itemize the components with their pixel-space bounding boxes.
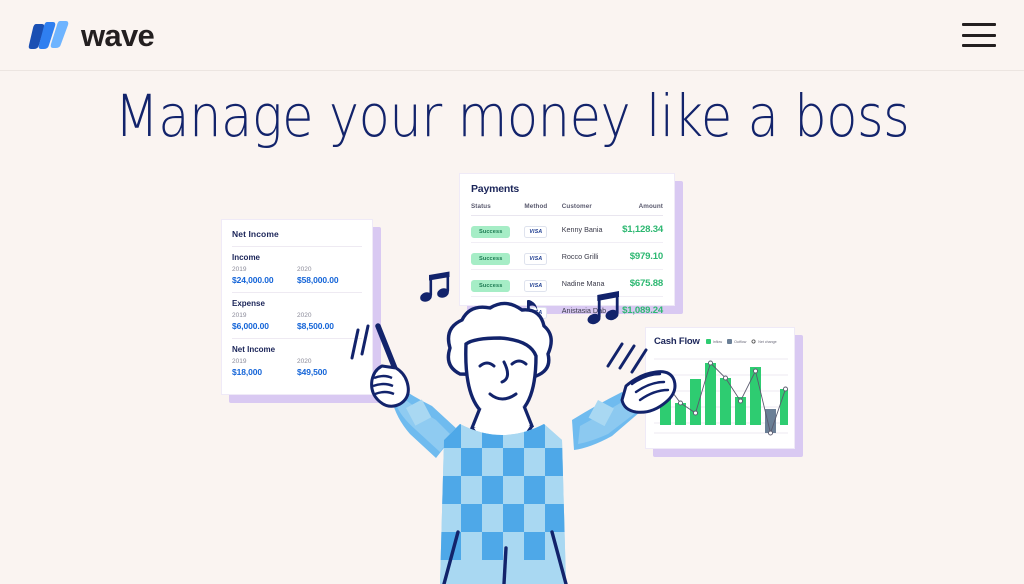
column-header-method: Method xyxy=(524,203,561,216)
column-header-status: Status xyxy=(471,203,524,216)
amount-value: $6,000.00 xyxy=(232,321,297,331)
net-income-card-title: Net Income xyxy=(232,229,362,239)
year-column: 2019 $24,000.00 xyxy=(232,266,297,285)
hamburger-bar xyxy=(962,34,996,37)
beamed-eighth-notes-icon-left xyxy=(419,272,450,304)
cell-status: Success xyxy=(471,243,524,270)
sweater-body xyxy=(440,420,566,584)
year-label: 2019 xyxy=(232,312,297,319)
net-income-section: Income 2019 $24,000.00 2020 $58,000.00 xyxy=(232,253,362,285)
cell-customer: Rocco Grilli xyxy=(562,243,622,270)
table-header-row: Status Method Customer Amount xyxy=(471,203,663,216)
year-label: 2019 xyxy=(232,266,297,273)
cell-method: VISA xyxy=(524,243,561,270)
section-label: Income xyxy=(232,253,362,262)
brand-logo[interactable]: wave xyxy=(28,18,154,52)
brand-name: wave xyxy=(81,20,154,51)
legend-label: Net change xyxy=(758,340,776,344)
cell-amount: $1,128.34 xyxy=(622,216,663,243)
inflow-swatch-icon xyxy=(706,339,711,344)
right-hand xyxy=(622,372,675,413)
cell-method: VISA xyxy=(524,216,561,243)
divider xyxy=(232,292,362,293)
column-header-amount: Amount xyxy=(622,203,663,216)
year-column: 2019 $6,000.00 xyxy=(232,312,297,331)
table-row[interactable]: Success VISA Kenny Bania $1,128.34 xyxy=(471,216,663,243)
visa-icon: VISA xyxy=(524,226,547,238)
year-column: 2020 $58,000.00 xyxy=(297,266,362,285)
hamburger-bar xyxy=(962,44,996,47)
net-change-marker-icon xyxy=(751,339,756,344)
hamburger-bar xyxy=(962,23,996,26)
hamburger-menu-icon[interactable] xyxy=(962,23,996,47)
legend-label: Inflow xyxy=(713,340,722,344)
legend-item-inflow: Inflow xyxy=(706,339,722,344)
year-label: 2019 xyxy=(232,358,297,365)
site-header: wave xyxy=(0,0,1024,71)
status-badge: Success xyxy=(471,226,510,238)
page-root: wave Manage your money like a boss Net I… xyxy=(0,0,1024,584)
amount-value: $24,000.00 xyxy=(232,275,297,285)
motion-lines-right xyxy=(608,344,646,372)
cell-customer: Kenny Bania xyxy=(562,216,622,243)
cell-amount: $979.10 xyxy=(622,243,663,270)
outflow-swatch-icon xyxy=(727,339,732,344)
visa-icon: VISA xyxy=(524,253,547,265)
cell-status: Success xyxy=(471,216,524,243)
wave-logo-icon xyxy=(28,18,70,52)
left-hand xyxy=(372,366,409,406)
legend-item-net-change: Net change xyxy=(751,339,776,344)
legend-label: Outflow xyxy=(734,340,746,344)
page-title: Manage your money like a boss xyxy=(61,86,962,147)
year-label: 2020 xyxy=(297,266,362,273)
chart-legend: Inflow Outflow Net change xyxy=(706,339,777,344)
amount-value: $58,000.00 xyxy=(297,275,362,285)
legend-item-outflow: Outflow xyxy=(727,339,746,344)
status-badge: Success xyxy=(471,253,510,265)
conductor-illustration xyxy=(340,300,700,584)
payments-card-title: Payments xyxy=(471,183,663,195)
table-row[interactable]: Success VISA Rocco Grilli $979.10 xyxy=(471,243,663,270)
sweater-check-pattern xyxy=(440,420,566,584)
motion-lines-left xyxy=(352,326,368,358)
divider xyxy=(232,246,362,247)
year-column: 2019 $18,000 xyxy=(232,358,297,377)
column-header-customer: Customer xyxy=(562,203,622,216)
amount-value: $18,000 xyxy=(232,367,297,377)
